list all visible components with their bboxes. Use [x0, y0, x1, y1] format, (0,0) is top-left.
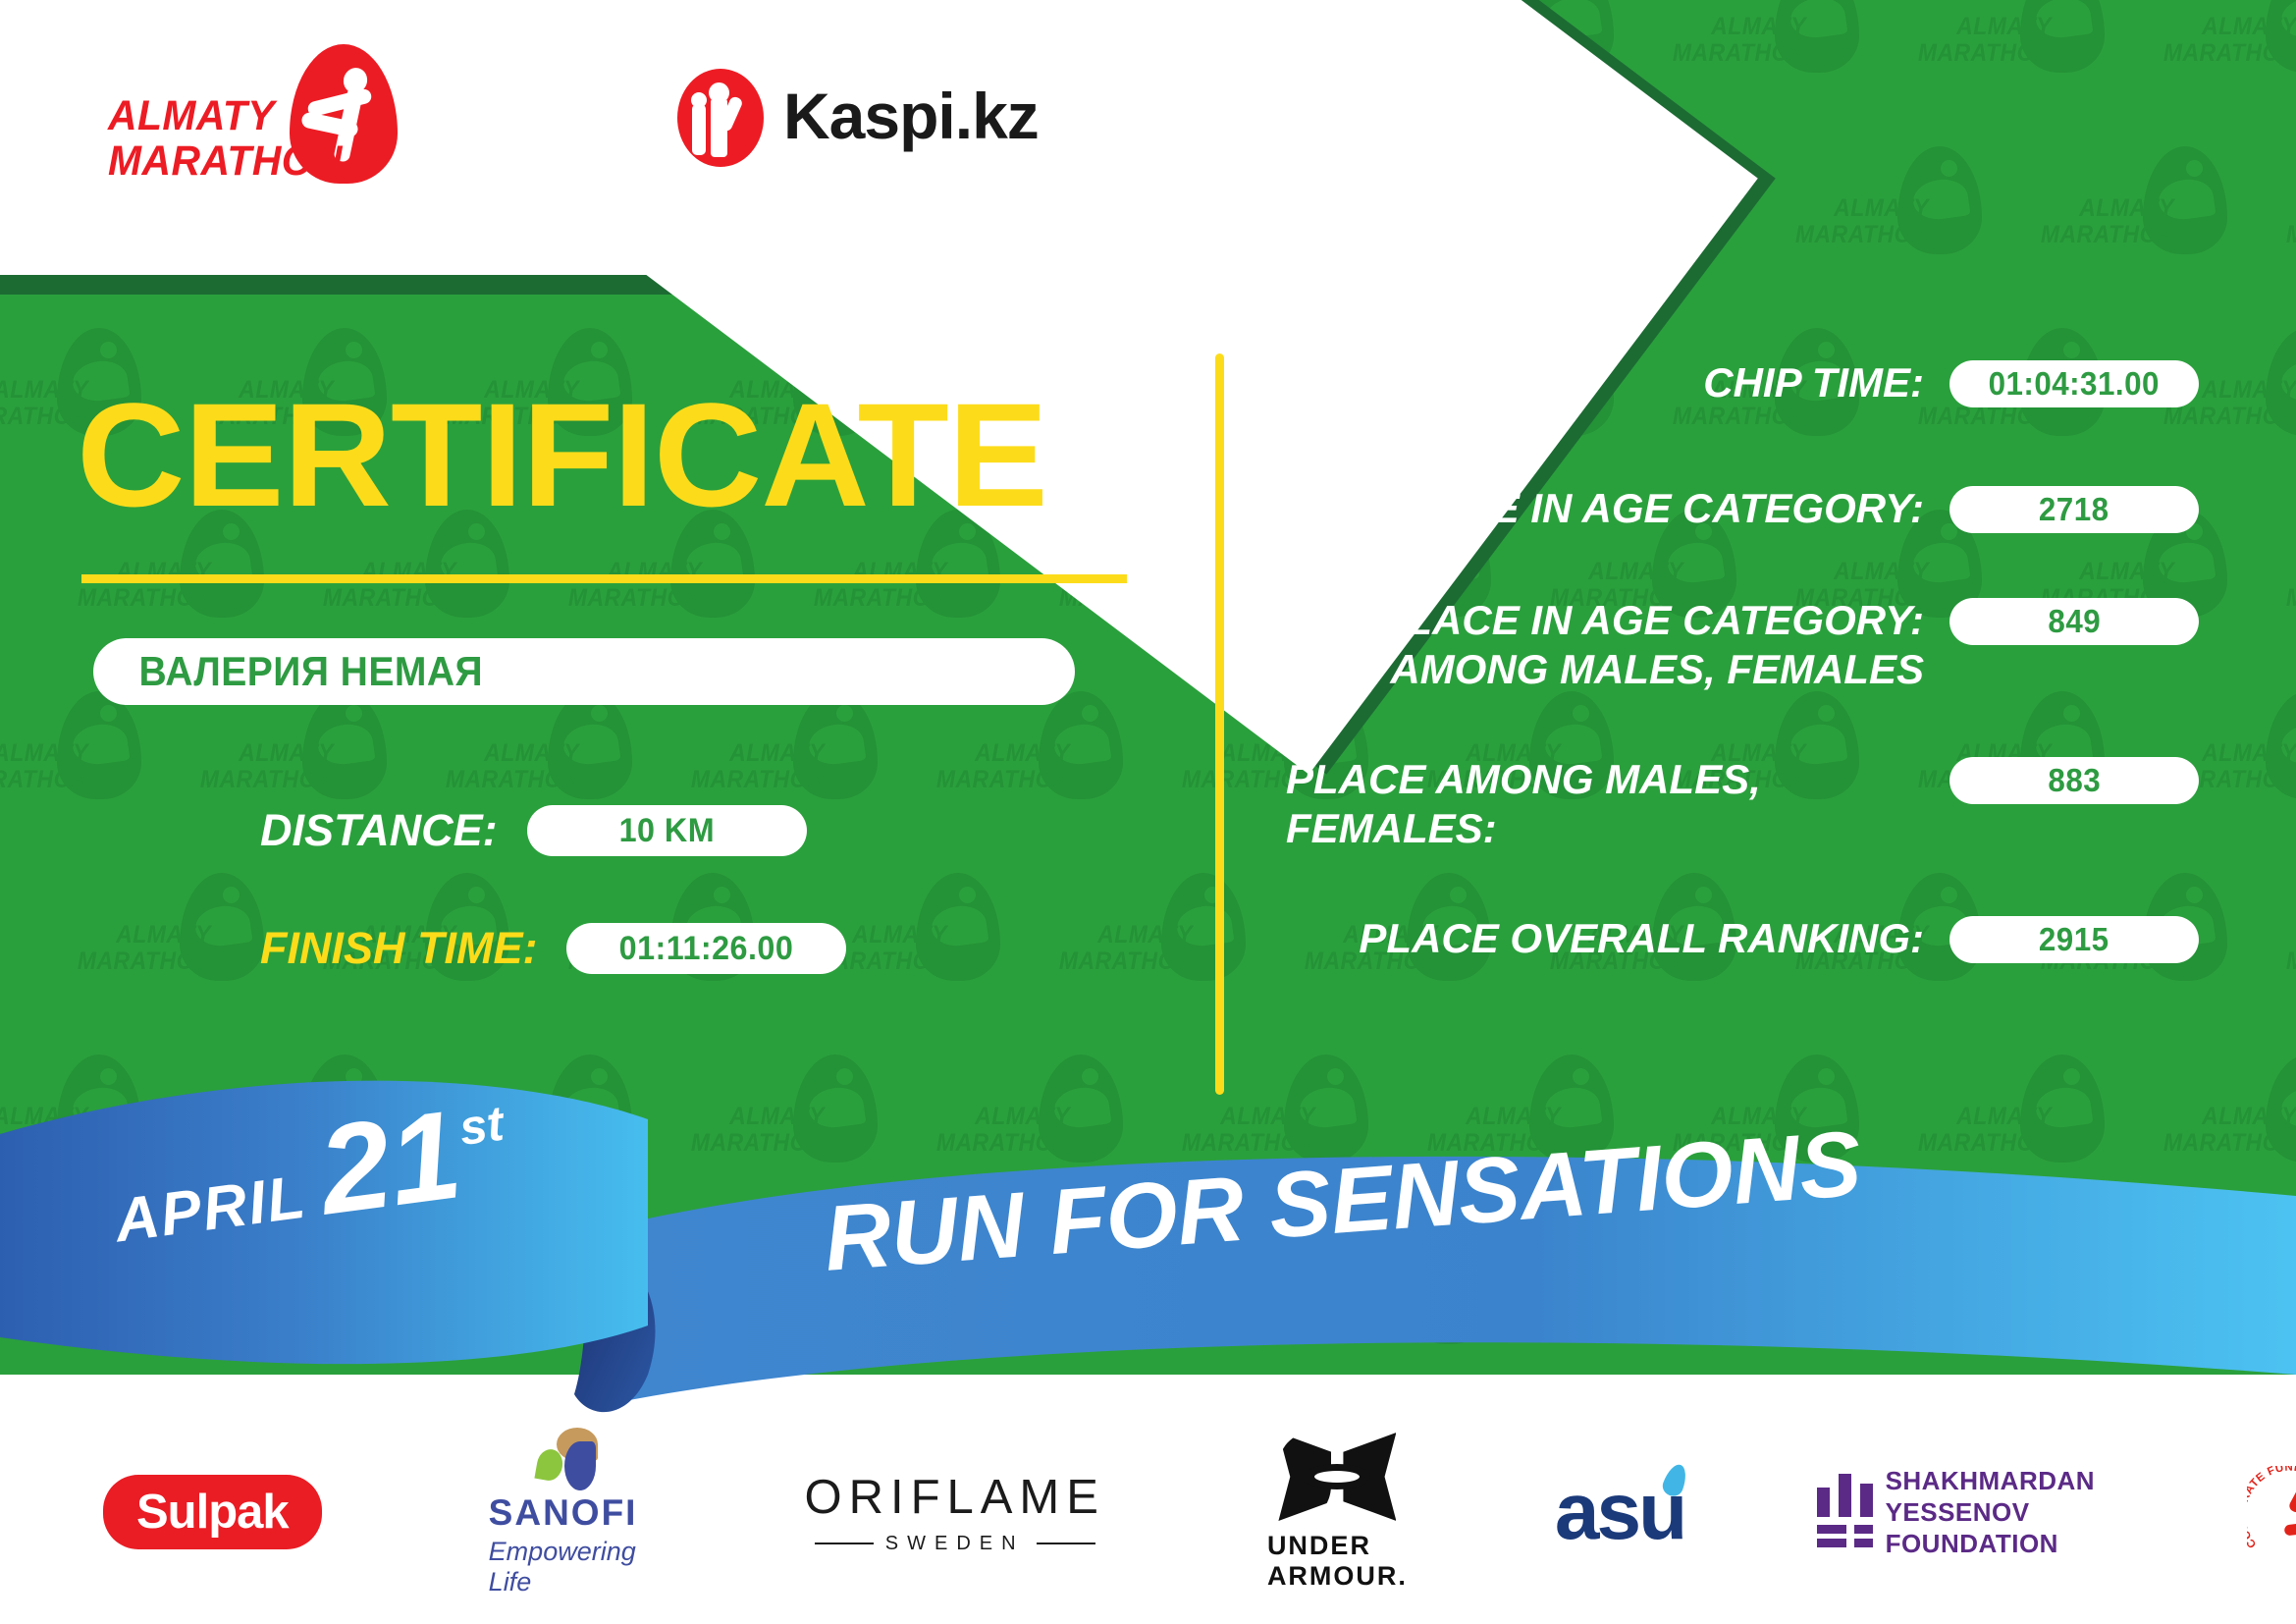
- finish-time-label: FINISH TIME:: [260, 923, 537, 974]
- place-among-males-females-value: 883: [2048, 762, 2101, 799]
- courage-fund-icon: CORPORATE FUND ★: [2247, 1458, 2296, 1566]
- watermark-tile: ALMATYMARATHON: [2272, 869, 2296, 1051]
- label-line-2: AMONG MALES, FEMALES: [1276, 645, 1924, 694]
- marathon-line: MARATHON: [108, 138, 342, 184]
- watermark-text: ALMATYMARATHON: [934, 740, 1070, 793]
- place-among-males-females-label: PLACE AMONG MALES, FEMALES:: [1276, 755, 1949, 853]
- place-overall-value: 2915: [2039, 921, 2109, 958]
- courage-figure-icon: ★: [2290, 1472, 2296, 1562]
- chip-time-label: CHIP TIME:: [1276, 358, 1949, 407]
- foundation-line-2: FOUNDATION: [1886, 1528, 2119, 1559]
- watermark-text: ALMATYMARATHON: [1793, 195, 1929, 248]
- watermark-text: ALMATYMARATHON: [76, 559, 211, 612]
- finish-time-value-pill: 01:11:26.00: [566, 923, 846, 974]
- place-age-category-among-value-pill: 849: [1949, 598, 2199, 645]
- sanofi-tagline: Empowering Life: [489, 1537, 638, 1597]
- sponsor-under-armour: UNDER ARMOUR.: [1267, 1433, 1408, 1592]
- almaty-marathon-logo: ALMATY MARATHON: [108, 44, 432, 191]
- chip-time-value: 01:04:31.00: [1989, 365, 2160, 403]
- certificate-page: ALMATYMARATHONALMATYMARATHONALMATYMARATH…: [0, 0, 2296, 1624]
- watermark-text: ALMATYMARATHON: [2162, 14, 2296, 67]
- yessenov-foundation-icon: [1817, 1470, 1861, 1554]
- watermark-text: ALMATYMARATHON: [812, 559, 947, 612]
- watermark-tile: ALMATYMARATHON: [2027, 142, 2272, 324]
- watermark-tile: ALMATYMARATHON: [2150, 0, 2296, 142]
- event-day-suffix: st: [456, 1095, 507, 1157]
- watermark-text: ALMATYMARATHON: [1916, 14, 2052, 67]
- sulpak-wordmark: Sulpak: [136, 1486, 289, 1539]
- result-row-chip-time: CHIP TIME: 01:04:31.00: [1276, 358, 2199, 407]
- distance-value-pill: 10 KM: [527, 805, 807, 856]
- distance-value: 10 KM: [618, 812, 715, 850]
- watermark-text: ALMATYMARATHON: [689, 740, 825, 793]
- oriflame-wordmark: ORIFLAME: [804, 1470, 1104, 1525]
- watermark-text: ALMATYMARATHON: [2039, 195, 2174, 248]
- event-day: 21: [314, 1106, 465, 1221]
- sponsor-sanofi: SANOFI Empowering Life: [489, 1428, 638, 1597]
- watermark-text: ALMATYMARATHON: [444, 740, 579, 793]
- place-age-category-among-value: 849: [2048, 603, 2101, 640]
- kaspi-figures-icon: [677, 69, 764, 167]
- header-logos: ALMATY MARATHON Kaspi.kz: [0, 0, 1242, 275]
- watermark-text: ALMATYMARATHON: [76, 922, 211, 975]
- place-age-category-among-label: PLACE IN AGE CATEGORY: AMONG MALES, FEMA…: [1276, 596, 1949, 694]
- vertical-divider: [1215, 353, 1224, 1095]
- almaty-line: ALMATY: [108, 93, 342, 138]
- oriflame-sub: SWEDEN: [815, 1533, 1095, 1555]
- under-armour-icon: [1278, 1433, 1396, 1521]
- title-underline-rule: [81, 574, 1127, 583]
- distance-label: DISTANCE:: [260, 805, 498, 856]
- watermark-text: ALMATYMARATHON: [0, 740, 88, 793]
- almaty-marathon-wordmark: ALMATY MARATHON: [108, 93, 342, 184]
- watermark-text: ALMATYMARATHON: [0, 377, 88, 430]
- place-overall-value-pill: 2915: [1949, 916, 2199, 963]
- sponsor-oriflame: ORIFLAME SWEDEN: [804, 1470, 1104, 1555]
- sponsor-bar: Sulpak SANOFI Empowering Life ORIFLAME S…: [0, 1414, 2296, 1610]
- sponsor-courage-to-be-the-first: CORPORATE FUND ★ COURAGE TO BE THE FIRST…: [2247, 1458, 2296, 1566]
- finish-time-value: 01:11:26.00: [619, 930, 794, 968]
- sanofi-icon: [523, 1428, 604, 1489]
- oriflame-sweden: SWEDEN: [885, 1533, 1025, 1555]
- place-among-males-females-value-pill: 883: [1949, 757, 2199, 804]
- watermark-tile: ALMATYMARATHON: [2272, 142, 2296, 324]
- under-armour-wordmark: UNDER ARMOUR.: [1267, 1531, 1408, 1592]
- watermark-text: ALMATYMARATHON: [321, 559, 456, 612]
- place-age-category-label: PLACE IN AGE CATEGORY:: [1276, 484, 1949, 533]
- watermark-tile: ALMATYMARATHON: [2272, 506, 2296, 687]
- label-line-1: PLACE IN AGE CATEGORY:: [1276, 596, 1924, 645]
- finish-time-row: FINISH TIME: 01:11:26.00: [260, 923, 846, 974]
- watermark-tile: ALMATYMARATHON: [1782, 142, 2027, 324]
- results-panel: CHIP TIME: 01:04:31.00 PLACE IN AGE CATE…: [1276, 358, 2199, 1008]
- place-age-category-value: 2718: [2039, 491, 2109, 528]
- watermark-text: ALMATYMARATHON: [1057, 922, 1193, 975]
- result-row-place-overall: PLACE OVERALL RANKING: 2915: [1276, 914, 2199, 963]
- certificate-title: CERTIFICATE: [77, 381, 1047, 528]
- oriflame-rule-left: [815, 1543, 874, 1544]
- sponsor-sulpak: Sulpak: [103, 1475, 322, 1549]
- sanofi-wordmark: SANOFI: [489, 1492, 638, 1534]
- participant-name-value: ВАЛЕРИЯ НЕМАЯ: [93, 648, 483, 695]
- corporate-fund-arc-text: CORPORATE FUND: [2247, 1466, 2296, 1556]
- watermark-text: ALMATYMARATHON: [2284, 559, 2296, 612]
- yessenov-foundation-wordmark: SHAKHMARDAN YESSENOV FOUNDATION: [1886, 1465, 2119, 1559]
- watermark-text: ALMATYMARATHON: [198, 740, 334, 793]
- place-age-category-value-pill: 2718: [1949, 486, 2199, 533]
- asu-wordmark: asu: [1555, 1466, 1684, 1558]
- watermark-tile: ALMATYMARATHON: [923, 687, 1168, 869]
- result-row-place-among-males-females: PLACE AMONG MALES, FEMALES: 883: [1276, 755, 2199, 853]
- sponsor-shakhmardan-yessenov-foundation: SHAKHMARDAN YESSENOV FOUNDATION: [1817, 1465, 2119, 1559]
- oriflame-rule-right: [1037, 1543, 1095, 1544]
- label-line-2: FEMALES:: [1286, 804, 1924, 853]
- watermark-text: ALMATYMARATHON: [566, 559, 702, 612]
- label-line-1: PLACE AMONG MALES,: [1286, 755, 1924, 804]
- sulpak-logo: Sulpak: [103, 1475, 322, 1549]
- result-row-place-age-category-among: PLACE IN AGE CATEGORY: AMONG MALES, FEMA…: [1276, 596, 2199, 694]
- foundation-line-1: SHAKHMARDAN YESSENOV: [1886, 1465, 2119, 1528]
- chip-time-value-pill: 01:04:31.00: [1949, 360, 2199, 407]
- distance-row: DISTANCE: 10 KM: [260, 805, 807, 856]
- result-row-place-age-category: PLACE IN AGE CATEGORY: 2718: [1276, 484, 2199, 533]
- watermark-tile: ALMATYMARATHON: [1045, 869, 1291, 1051]
- kaspi-wordmark: Kaspi.kz: [783, 79, 1039, 153]
- watermark-text: ALMATYMARATHON: [2284, 195, 2296, 248]
- watermark-text: ALMATYMARATHON: [2284, 922, 2296, 975]
- place-overall-label: PLACE OVERALL RANKING:: [1276, 914, 1949, 963]
- watermark-text: ALMATYMARATHON: [1671, 14, 1806, 67]
- watermark-tile: ALMATYMARATHON: [0, 687, 187, 869]
- watermark-tile: ALMATYMARATHON: [1904, 0, 2150, 142]
- sponsor-asu: asu: [1555, 1466, 1684, 1558]
- participant-name-field: ВАЛЕРИЯ НЕМАЯ: [93, 638, 1075, 705]
